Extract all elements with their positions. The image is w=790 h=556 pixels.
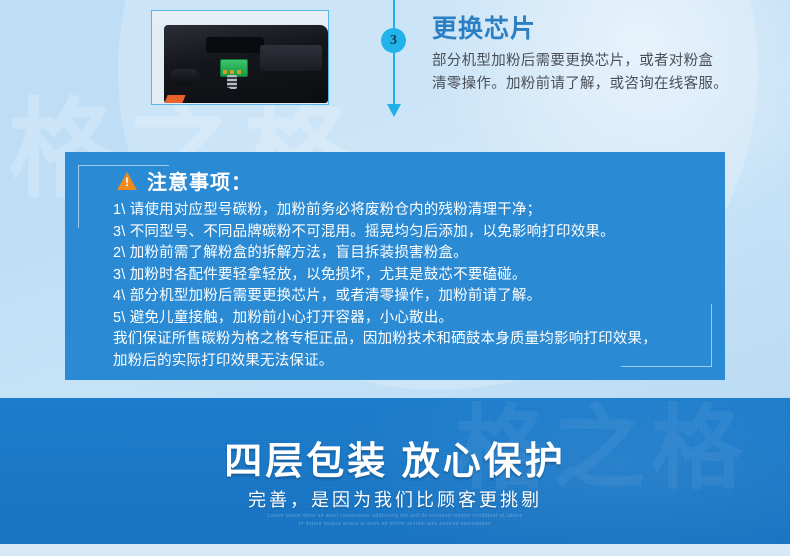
step-number-badge: 3 [381, 28, 406, 53]
banner-fine-print-line-2: et dolore magna aliqua ut enim ad minim … [0, 520, 790, 528]
notice-line: 2\ 加粉前需了解粉盒的拆解方法，盲目拆装损害粉盒。 [113, 243, 695, 265]
notice-line: 3\ 加粉时各配件要轻拿轻放，以免损坏，尤其是鼓芯不要磕碰。 [113, 265, 695, 287]
banner-fine-print: Lorem Ipsum dolor sit amet consectetur a… [0, 512, 790, 528]
notice-line: 我们保证所售碳粉为格之格专柜正品，因加粉技术和硒鼓本身质量均影响打印效果， [113, 329, 695, 351]
notice-line: 3\ 不同型号、不同品牌碳粉不可混用。摇晃均匀后添加，以免影响打印效果。 [113, 222, 695, 244]
cartridge-ridge [260, 45, 322, 71]
orange-tab-part [164, 95, 185, 103]
warning-triangle-icon [117, 172, 137, 190]
cartridge-roller [170, 69, 200, 85]
notice-header: 注意事项： [117, 166, 252, 195]
toner-cartridge-illustration [164, 25, 328, 103]
cartridge-knob [216, 87, 234, 103]
step-heading-block: 更换芯片 部分机型加粉后需要更换芯片，或者对粉盒 清零操作。加粉前请了解，或咨询… [432, 14, 782, 97]
cartridge-notch [206, 37, 264, 53]
notice-line: 4\ 部分机型加粉后需要更换芯片，或者清零操作，加粉前请了解。 [113, 286, 695, 308]
notice-title: 注意事项： [147, 166, 252, 195]
product-photo [151, 10, 329, 105]
bottom-strip [0, 544, 790, 556]
notice-line: 加粉后的实际打印效果无法保证。 [113, 351, 695, 373]
notice-panel: 注意事项： 1\ 请使用对应型号碳粉，加粉前务必将废粉仓内的残粉清理干净； 3\… [65, 152, 725, 380]
timeline-line [393, 0, 395, 112]
notice-line: 5\ 避免儿童接触，加粉前小心打开容器，小心散出。 [113, 308, 695, 330]
bottom-banner: 格之格 四层包装 放心保护 完善，是因为我们比顾客更挑剔 Lorem Ipsum… [0, 398, 790, 544]
step-description-line-2: 清零操作。加粉前请了解，或咨询在线客服。 [432, 73, 782, 96]
step-description: 部分机型加粉后需要更换芯片，或者对粉盒 清零操作。加粉前请了解，或咨询在线客服。 [432, 50, 782, 97]
banner-fine-print-line-1: Lorem Ipsum dolor sit amet consectetur a… [0, 512, 790, 520]
step-description-line-1: 部分机型加粉后需要更换芯片，或者对粉盒 [432, 50, 782, 73]
banner-title: 四层包装 放心保护 [0, 430, 790, 485]
banner-subtitle: 完善，是因为我们比顾客更挑剔 [0, 486, 790, 512]
promo-page: 格之格 3 更换芯片 部分机型加粉后需要更换芯片，或者对粉盒 清零操作。加粉前请… [0, 0, 790, 556]
step-title: 更换芯片 [432, 14, 782, 44]
product-photo-background [152, 11, 328, 104]
notice-list: 1\ 请使用对应型号碳粉，加粉前务必将废粉仓内的残粉清理干净； 3\ 不同型号、… [113, 200, 695, 372]
notice-line: 1\ 请使用对应型号碳粉，加粉前务必将废粉仓内的残粉清理干净； [113, 200, 695, 222]
timeline-arrow-icon [387, 104, 401, 117]
